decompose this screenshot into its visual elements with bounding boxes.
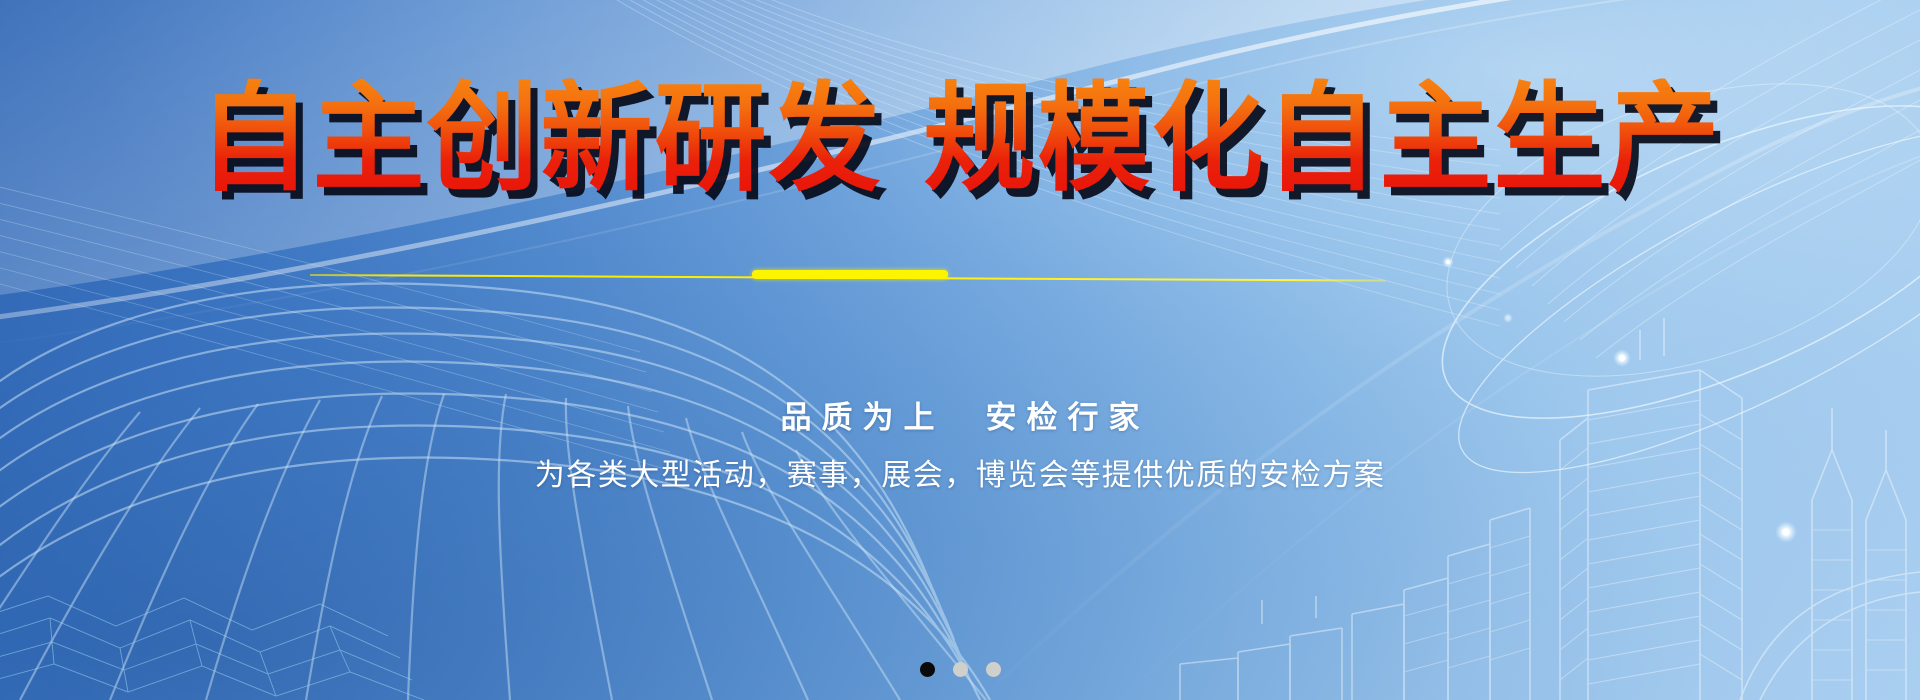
divider-center-bar <box>752 270 948 279</box>
carousel-dot-1[interactable] <box>920 662 935 677</box>
headline-row: 自主创新研发 规模化自主生产 <box>0 82 1920 196</box>
tagline-secondary: 为各类大型活动，赛事，展会，博览会等提供优质的安检方案 <box>0 450 1920 494</box>
carousel-dot-3[interactable] <box>986 662 1001 677</box>
divider <box>310 268 1385 282</box>
hero-banner: 自主创新研发 规模化自主生产 品质为上 安检行家 为各类大型活动，赛事，展会，博… <box>0 0 1920 700</box>
carousel-dot-2[interactable] <box>953 662 968 677</box>
tagline-primary: 品质为上 安检行家 <box>0 392 1920 437</box>
carousel-pagination[interactable] <box>0 662 1920 677</box>
page-title: 自主创新研发 规模化自主生产 <box>199 79 1722 200</box>
